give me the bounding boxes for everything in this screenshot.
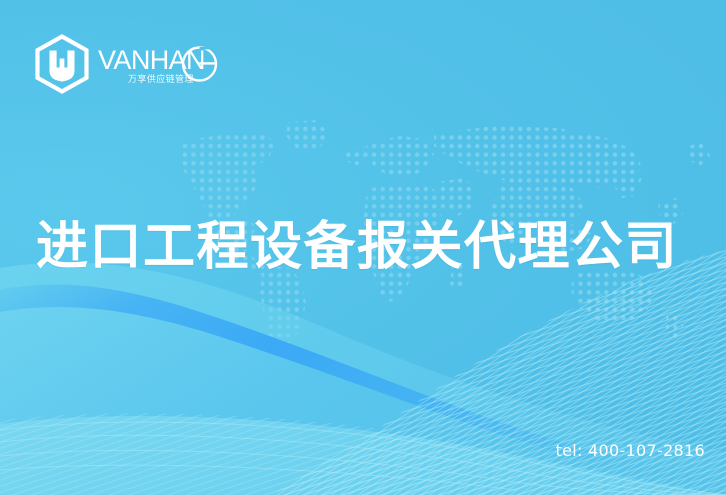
page-title: 进口工程设备报关代理公司	[36, 216, 708, 278]
logo-wordmark: VANHAN 万享供应链管理	[98, 34, 220, 94]
contact-phone: tel: 400-107-2816	[556, 441, 705, 461]
vanhang-hexagon-logo-icon	[32, 34, 92, 94]
company-logo[interactable]: VANHAN 万享供应链管理	[32, 33, 220, 95]
logo-wordmark-text: VANHAN	[98, 45, 205, 75]
logo-subtitle-text: 万享供应链管理	[128, 73, 194, 85]
promotional-banner: VANHAN 万享供应链管理 进口工程设备报关代理公司 tel: 400-107…	[0, 0, 726, 495]
